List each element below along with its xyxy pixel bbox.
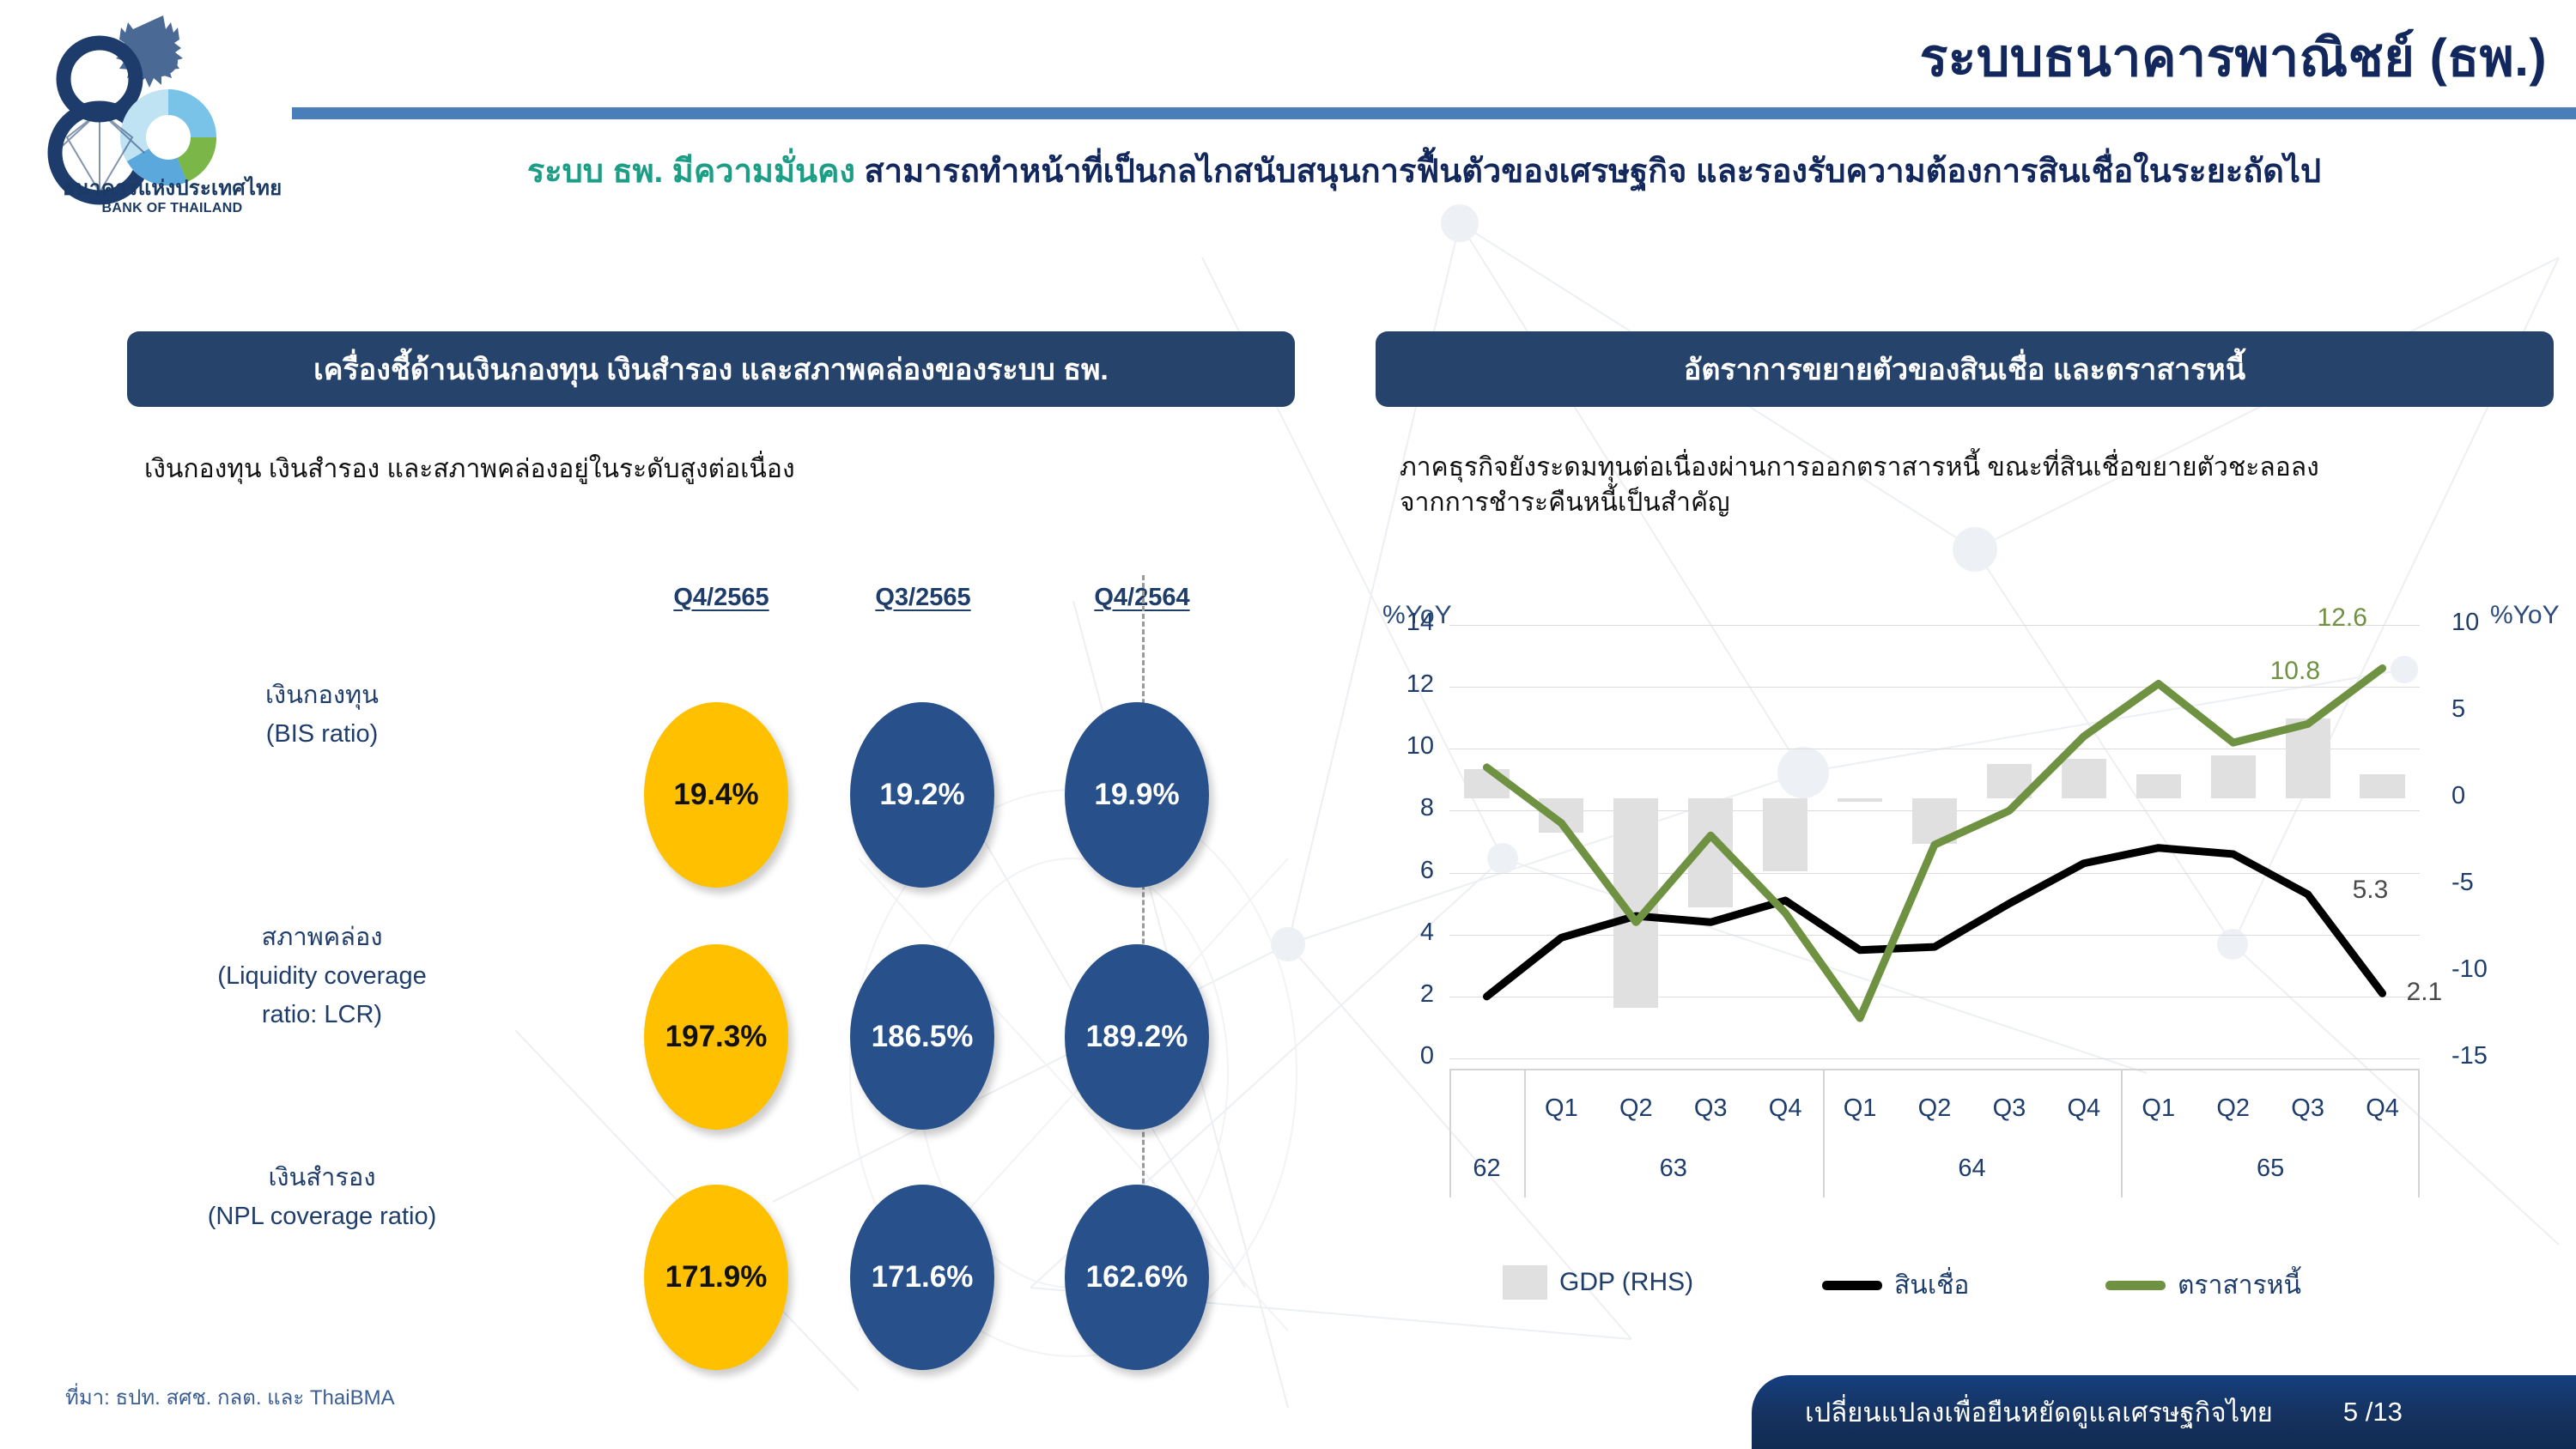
y-axis-left-tick-label: 4 <box>1382 919 1434 947</box>
page-number: 5 /13 <box>2343 1397 2403 1428</box>
legend-item-bond: ตราสารหนี้ <box>2105 1265 2301 1306</box>
x-axis-quarter-label: Q2 <box>2199 1094 2268 1123</box>
left-panel-subtext: เงินกองทุน เงินสำรอง และสภาพคล่องอยู่ในร… <box>144 452 1295 487</box>
y-axis-right-tick-label: -5 <box>2451 869 2512 897</box>
kpi-row-label-en-1: (Liquidity coverage <box>137 957 507 996</box>
chart-data-label: 2.1 <box>2407 978 2443 1007</box>
kpi-row-label-lcr: สภาพคล่อง (Liquidity coverage ratio: LCR… <box>137 919 507 1034</box>
kpi-row-label-en: (NPL coverage ratio) <box>137 1197 507 1236</box>
legend-label-credit: สินเชื่อ <box>1894 1265 1969 1306</box>
x-axis-quarter-label: Q2 <box>1601 1094 1670 1123</box>
bank-of-thailand-logo: ธนาคารแห่งประเทศไทย BANK OF THAILAND <box>33 9 247 223</box>
x-axis-quarter-label: Q4 <box>1751 1094 1820 1123</box>
gridline <box>1449 1058 2420 1059</box>
y-axis-left-tick-label: 6 <box>1382 857 1434 885</box>
kpi-bubble-bis-q3-2565: 19.2% <box>850 702 994 888</box>
kpi-bubble-bis-q4-2565: 19.4% <box>644 702 788 888</box>
kpi-bubble-grid: Q4/2565 Q3/2565 Q4/2564 เงินกองทุน (BIS … <box>129 567 1305 1339</box>
credit-and-bond-growth-chart: %YoY %YoY 02468101214 1050-5-10-15 12.61… <box>1382 601 2567 1356</box>
chart-line-series <box>1449 625 2420 1058</box>
left-panel-header: เครื่องชี้ด้านเงินกองทุน เงินสำรอง และสภ… <box>127 331 1295 407</box>
y-axis-left-tick-label: 10 <box>1382 732 1434 761</box>
x-axis-year-label: 63 <box>1635 1155 1712 1183</box>
y-axis-left-tick-label: 12 <box>1382 670 1434 699</box>
kpi-column-header-q3-2565: Q3/2565 <box>829 584 1018 612</box>
x-axis-year-label: 65 <box>2232 1155 2309 1183</box>
kpi-bubble-bis-q4-2564: 19.9% <box>1065 702 1209 888</box>
y-axis-right-tick-label: -15 <box>2451 1042 2512 1070</box>
y-axis-right-tick-label: 0 <box>2451 782 2512 810</box>
kpi-bubble-npl-q3-2565: 171.6% <box>850 1185 994 1370</box>
chart-data-label: 12.6 <box>2318 603 2367 633</box>
subtitle-rest: สามารถทำหน้าที่เป็นกลไกสนับสนุนการฟื้นตั… <box>855 154 2321 190</box>
kpi-row-label-bis-ratio: เงินกองทุน (BIS ratio) <box>137 676 507 754</box>
footer-bar: เปลี่ยนแปลงเพื่อยืนหยัดดูแลเศรษฐกิจไทย 5… <box>1752 1375 2576 1449</box>
logo-name-th: ธนาคารแห่งประเทศไทย <box>58 177 286 201</box>
chart-data-label: 5.3 <box>2353 876 2389 905</box>
y-axis-left-tick-label: 0 <box>1382 1042 1434 1070</box>
chart-line-bond <box>1486 669 2382 1019</box>
kpi-bubble-npl-q4-2565: 171.9% <box>644 1185 788 1370</box>
slide: ธนาคารแห่งประเทศไทย BANK OF THAILAND ระบ… <box>0 0 2576 1449</box>
source-note: ที่มา: ธปท. สศช. กลต. และ ThaiBMA <box>65 1380 395 1414</box>
x-axis-year-label: 62 <box>1448 1155 1525 1183</box>
kpi-row-label-th: เงินสำรอง <box>137 1159 507 1197</box>
kpi-column-header-q4-2565: Q4/2565 <box>627 584 816 612</box>
slide-subtitle: ระบบ ธพ. มีความมั่นคง สามารถทำหน้าที่เป็… <box>296 144 2552 197</box>
subtitle-highlight: ระบบ ธพ. มีความมั่นคง <box>527 154 855 190</box>
chart-data-label: 10.8 <box>2270 657 2320 686</box>
kpi-row-label-npl-coverage: เงินสำรอง (NPL coverage ratio) <box>137 1159 507 1236</box>
kpi-bubble-lcr-q4-2565: 197.3% <box>644 944 788 1130</box>
y-axis-left-tick-label: 8 <box>1382 794 1434 822</box>
x-axis-year-separator <box>1524 1069 1526 1197</box>
legend-item-credit: สินเชื่อ <box>1822 1265 1969 1306</box>
x-axis-quarter-label: Q3 <box>2274 1094 2342 1123</box>
legend-swatch-line-black-icon <box>1822 1281 1882 1290</box>
logo-caption: ธนาคารแห่งประเทศไทย BANK OF THAILAND <box>58 177 286 217</box>
footer-tagline: เปลี่ยนแปลงเพื่อยืนหยัดดูแลเศรษฐกิจไทย <box>1805 1391 2273 1434</box>
y-axis-left-tick-label: 14 <box>1382 609 1434 637</box>
y-axis-right-tick-label: -10 <box>2451 955 2512 984</box>
x-axis-quarter-label: Q3 <box>1975 1094 2044 1123</box>
x-axis-quarter-label: Q1 <box>1527 1094 1595 1123</box>
right-panel-subtext-line1: ภาคธุรกิจยังระดมทุนต่อเนื่องผ่านการออกตร… <box>1400 450 2559 485</box>
legend-swatch-line-green-icon <box>2105 1281 2166 1290</box>
y-axis-right-tick-label: 5 <box>2451 695 2512 724</box>
legend-label-gdp: GDP (RHS) <box>1559 1268 1693 1297</box>
y-axis-right-tick-label: 10 <box>2451 609 2512 637</box>
logo-name-en: BANK OF THAILAND <box>58 201 286 217</box>
x-axis-year-separator <box>1823 1069 1825 1197</box>
x-axis-quarter-label: Q2 <box>1900 1094 1969 1123</box>
kpi-row-label-th: เงินกองทุน <box>137 676 507 715</box>
x-axis-quarter-label: Q4 <box>2050 1094 2118 1123</box>
kpi-row-label-en-2: ratio: LCR) <box>137 996 507 1034</box>
legend-swatch-bar-icon <box>1503 1265 1547 1300</box>
kpi-row-label-th: สภาพคล่อง <box>137 919 507 957</box>
chart-plot-area: 12.610.85.32.1 <box>1449 625 2420 1058</box>
right-panel-header: อัตราการขยายตัวของสินเชื่อ และตราสารหนี้ <box>1376 331 2554 407</box>
legend-item-gdp: GDP (RHS) <box>1503 1265 1693 1300</box>
kpi-bubble-lcr-q4-2564: 189.2% <box>1065 944 1209 1130</box>
page-title: ระบบธนาคารพาณิชย์ (ธพ.) <box>1920 15 2547 99</box>
legend-label-bond: ตราสารหนี้ <box>2178 1265 2301 1306</box>
y-axis-left-tick-label: 2 <box>1382 980 1434 1009</box>
right-panel-subtext-line2: จากการชำระคืนหนี้เป็นสำคัญ <box>1400 485 2559 520</box>
chart-legend: GDP (RHS) สินเชื่อ ตราสารหนี้ <box>1503 1262 2516 1313</box>
kpi-bubble-npl-q4-2564: 162.6% <box>1065 1185 1209 1370</box>
right-panel-subtext: ภาคธุรกิจยังระดมทุนต่อเนื่องผ่านการออกตร… <box>1400 450 2559 521</box>
x-axis-year-label: 64 <box>1933 1155 2010 1183</box>
x-axis-quarter-label: Q1 <box>2124 1094 2193 1123</box>
x-axis-year-separator <box>2121 1069 2123 1197</box>
x-axis-quarter-label: Q3 <box>1676 1094 1745 1123</box>
x-axis-quarter-label: Q1 <box>1826 1094 1894 1123</box>
x-axis: Q1Q2Q3Q4Q1Q2Q3Q4Q1Q2Q3Q462636465 <box>1449 1069 2420 1197</box>
kpi-row-label-en: (BIS ratio) <box>137 715 507 754</box>
kpi-bubble-lcr-q3-2565: 186.5% <box>850 944 994 1130</box>
chart-line-credit <box>1486 848 2382 997</box>
x-axis-quarter-label: Q4 <box>2348 1094 2417 1123</box>
title-rule-divider <box>292 107 2576 119</box>
